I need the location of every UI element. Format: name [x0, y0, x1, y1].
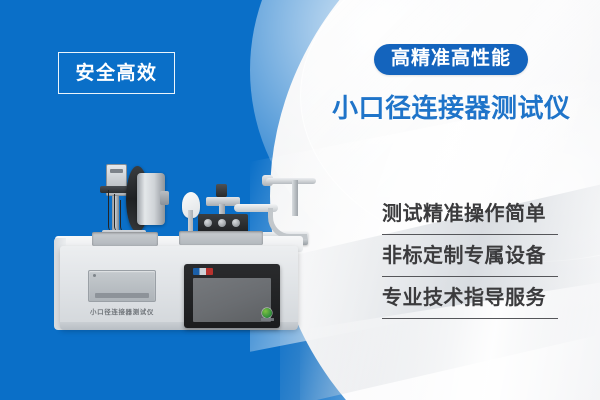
slide-block-nub: [110, 169, 123, 173]
feature-item-3: 专业技术指导服务: [382, 282, 562, 324]
green-circle-logo-mark: [262, 308, 272, 318]
carriage-knob-1: [204, 219, 212, 227]
deck-recess-left: [92, 232, 158, 246]
high-precision-pill: 高精准高性能: [374, 44, 528, 75]
feature-item-1-label: 测试精准操作简单: [382, 201, 562, 228]
page-title: 小口径连接器测试仪: [332, 94, 590, 123]
feature-item-1: 测试精准操作简单: [382, 198, 562, 240]
clamp-knob: [216, 184, 227, 197]
printer-indicator-dot: [93, 274, 96, 277]
gooseneck-arm: [262, 170, 316, 234]
high-precision-pill-label: 高精准高性能: [391, 49, 511, 68]
banner-stage: 安全高效 高精准高性能 小口径连接器测试仪 测试精准操作简单 非标定制专属设备 …: [0, 0, 600, 400]
product-machine: 小口径连接器测试仪: [34, 160, 314, 372]
feature-item-3-label: 专业技术指导服务: [382, 285, 562, 312]
touchscreen-display[interactable]: [193, 278, 271, 322]
printer-panel[interactable]: [88, 270, 156, 302]
cable-3: [120, 200, 135, 234]
feature-item-2-label: 非标定制专属设备: [382, 243, 562, 270]
feature-divider-1: [382, 234, 558, 235]
brand-badge-icon: [193, 268, 213, 275]
green-circle-logo-caption: [261, 318, 274, 321]
feature-divider-2: [382, 276, 558, 277]
paddle-stem: [188, 210, 193, 232]
safety-efficiency-badge-label: 安全高效: [75, 64, 157, 83]
printer-paper-slot: [95, 293, 149, 298]
green-circle-logo-icon: [262, 308, 274, 322]
gooseneck-top-bar: [266, 178, 316, 184]
safety-efficiency-badge: 安全高效: [58, 52, 175, 94]
machine-nameplate: 小口径连接器测试仪: [62, 306, 182, 316]
metal-drum: [137, 173, 165, 225]
drum-end-cap: [160, 191, 169, 205]
carriage-knob-2: [218, 219, 226, 227]
clamp-head: [206, 184, 240, 218]
deck-recess-right: [179, 231, 263, 245]
carriage-knob-3: [232, 219, 240, 227]
feature-divider-3: [382, 318, 558, 319]
wheel-drive-assembly: [86, 160, 176, 240]
feature-item-2: 非标定制专属设备: [382, 240, 562, 282]
feature-list: 测试精准操作简单 非标定制专属设备 专业技术指导服务: [382, 198, 562, 324]
